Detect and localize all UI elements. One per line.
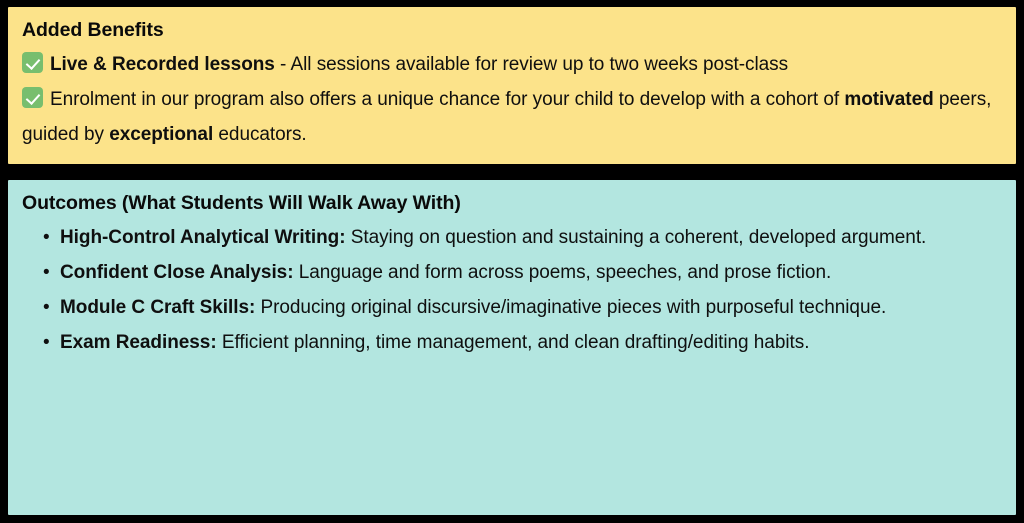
outcomes-list: High-Control Analytical Writing: Staying… bbox=[22, 220, 1002, 360]
benefit-bold-lead: Live & Recorded lessons bbox=[50, 54, 275, 75]
outcome-description: Producing original discursive/imaginativ… bbox=[255, 297, 886, 318]
outcome-description: Staying on question and sustaining a coh… bbox=[346, 227, 927, 248]
benefit-item: Live & Recorded lessons - All sessions a… bbox=[22, 47, 1002, 82]
outcome-description: Language and form across poems, speeches… bbox=[293, 262, 831, 283]
added-benefits-heading: Added Benefits bbox=[22, 17, 1002, 43]
benefit-text-part-3: educators. bbox=[213, 124, 306, 145]
outcome-description: Efficient planning, time management, and… bbox=[217, 332, 810, 353]
infographic-page: Added Benefits Live & Recorded lessons -… bbox=[0, 0, 1024, 523]
benefit-bold-motivated: motivated bbox=[844, 89, 933, 110]
benefit-item: Enrolment in our program also offers a u… bbox=[22, 82, 1002, 152]
benefit-bold-exceptional: exceptional bbox=[109, 124, 213, 145]
outcomes-heading: Outcomes (What Students Will Walk Away W… bbox=[22, 190, 1002, 216]
added-benefits-panel: Added Benefits Live & Recorded lessons -… bbox=[4, 3, 1020, 168]
outcomes-panel: Outcomes (What Students Will Walk Away W… bbox=[4, 176, 1020, 519]
list-item: High-Control Analytical Writing: Staying… bbox=[60, 220, 1002, 255]
outcome-label: Confident Close Analysis: bbox=[60, 262, 293, 283]
benefit-rest-text: - All sessions available for review up t… bbox=[275, 54, 788, 75]
outcome-label: Exam Readiness: bbox=[60, 332, 217, 353]
green-check-icon bbox=[22, 52, 43, 73]
outcome-label: High-Control Analytical Writing: bbox=[60, 227, 346, 248]
green-check-icon bbox=[22, 87, 43, 108]
list-item: Exam Readiness: Efficient planning, time… bbox=[60, 325, 1002, 360]
outcome-label: Module C Craft Skills: bbox=[60, 297, 255, 318]
list-item: Confident Close Analysis: Language and f… bbox=[60, 255, 1002, 290]
list-item: Module C Craft Skills: Producing origina… bbox=[60, 290, 1002, 325]
benefit-text-part-1: Enrolment in our program also offers a u… bbox=[50, 89, 844, 110]
